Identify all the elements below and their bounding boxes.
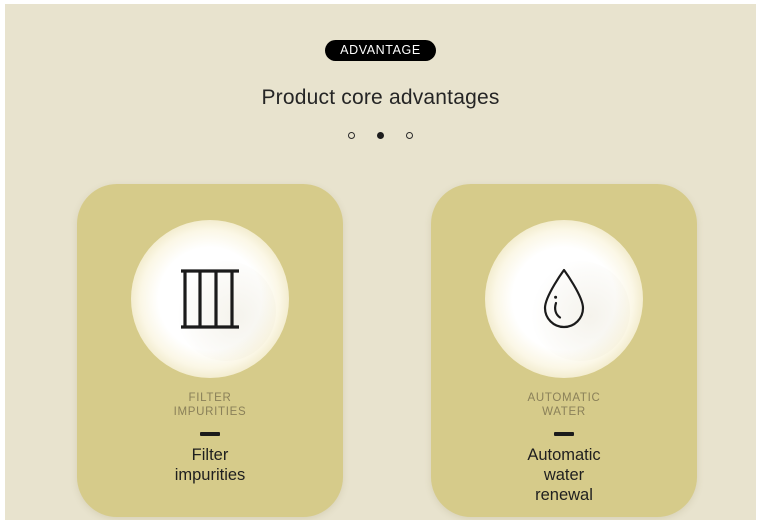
card-text: FILTER IMPURITIES Filter impurities bbox=[77, 391, 343, 485]
card-text: AUTOMATIC WATER Automatic water renewal bbox=[431, 391, 697, 505]
advantage-card-automatic-water[interactable]: AUTOMATIC WATER Automatic water renewal bbox=[431, 184, 697, 517]
filter-bars-icon bbox=[179, 267, 241, 331]
advantage-card-filter-impurities[interactable]: FILTER IMPURITIES Filter impurities bbox=[77, 184, 343, 517]
carousel-dots bbox=[5, 132, 756, 139]
page-title: Product core advantages bbox=[5, 86, 756, 110]
card-divider bbox=[200, 432, 220, 436]
advantage-cards: FILTER IMPURITIES Filter impurities bbox=[77, 184, 697, 520]
badge-row: ADVANTAGE bbox=[5, 40, 756, 61]
advantage-section: ADVANTAGE Product core advantages bbox=[5, 4, 756, 520]
card-headline: Filter impurities bbox=[77, 445, 343, 485]
icon-circle bbox=[131, 220, 289, 378]
icon-circle bbox=[485, 220, 643, 378]
card-divider bbox=[554, 432, 574, 436]
carousel-dot-1[interactable] bbox=[348, 132, 355, 139]
carousel-dot-3[interactable] bbox=[406, 132, 413, 139]
card-kicker: AUTOMATIC WATER bbox=[431, 391, 697, 419]
section-badge: ADVANTAGE bbox=[325, 40, 436, 61]
water-drop-icon bbox=[533, 267, 595, 331]
card-headline: Automatic water renewal bbox=[431, 445, 697, 505]
carousel-dot-2[interactable] bbox=[377, 132, 384, 139]
card-kicker: FILTER IMPURITIES bbox=[77, 391, 343, 419]
